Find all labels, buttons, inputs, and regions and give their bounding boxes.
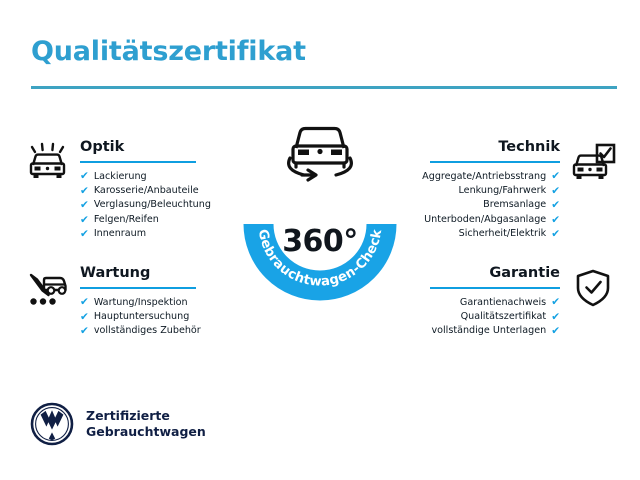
check-icon: ✔ — [551, 326, 560, 337]
list-item: Bremsanlage✔ — [430, 198, 560, 212]
list-item: ✔Lackierung — [80, 170, 196, 184]
shield-check-icon — [570, 268, 616, 308]
section-heading: Technik — [430, 140, 560, 155]
check-icon: ✔ — [551, 171, 560, 182]
check-icon: ✔ — [551, 312, 560, 323]
section-underline — [430, 161, 560, 163]
list-item: vollständige Unterlagen✔ — [430, 324, 560, 338]
check-icon: ✔ — [80, 326, 89, 337]
list-item: Qualitätszertifikat✔ — [430, 310, 560, 324]
section-underline — [80, 161, 196, 163]
check-icon: ✔ — [80, 312, 89, 323]
section-optik: Optik ✔Lackierung ✔Karosserie/Anbauteile… — [24, 140, 196, 242]
badge-360-gebrauchtwagen-check: Gebrauchtwagen-Check 360° — [236, 140, 404, 308]
list-item-label: Qualitätszertifikat — [461, 310, 547, 324]
section-underline — [430, 287, 560, 289]
footer-line-2: Gebrauchtwagen — [86, 424, 206, 440]
checklist-wartung: ✔Wartung/Inspektion ✔Hauptuntersuchung ✔… — [80, 296, 196, 339]
list-item-label: Felgen/Reifen — [94, 213, 159, 227]
check-icon: ✔ — [80, 229, 89, 240]
list-item-label: Lenkung/Fahrwerk — [458, 184, 546, 198]
checklist-technik: Aggregate/Antriebsstrang✔ Lenkung/Fahrwe… — [430, 170, 560, 242]
footer-line-1: Zertifizierte — [86, 408, 206, 424]
list-item: ✔vollständiges Zubehör — [80, 324, 196, 338]
section-optik-body: Optik ✔Lackierung ✔Karosserie/Anbauteile… — [80, 140, 196, 242]
section-garantie-body: Garantie Garantienachweis✔ Qualitätszert… — [430, 266, 560, 339]
list-item-label: Karosserie/Anbauteile — [94, 184, 199, 198]
list-item: ✔Wartung/Inspektion — [80, 296, 196, 310]
list-item: Lenkung/Fahrwerk✔ — [430, 184, 560, 198]
check-icon: ✔ — [551, 186, 560, 197]
list-item-label: vollständige Unterlagen — [431, 324, 546, 338]
section-heading: Garantie — [430, 266, 560, 281]
list-item-label: Innenraum — [94, 227, 146, 241]
list-item-label: Unterboden/Abgasanlage — [424, 213, 546, 227]
list-item: Aggregate/Antriebsstrang✔ — [430, 170, 560, 184]
certificate-page: Qualitätszertifikat Optik — [0, 0, 640, 480]
section-underline — [80, 287, 196, 289]
footer-brand: Zertifizierte Gebrauchtwagen — [30, 402, 206, 446]
car-shine-icon — [24, 142, 70, 182]
check-icon: ✔ — [80, 200, 89, 211]
list-item-label: Sicherheit/Elektrik — [459, 227, 547, 241]
section-wartung: Wartung ✔Wartung/Inspektion ✔Hauptunters… — [24, 266, 196, 339]
footer-brand-text: Zertifizierte Gebrauchtwagen — [86, 408, 206, 440]
volkswagen-logo — [30, 402, 74, 446]
badge-number: 360° — [236, 224, 404, 259]
list-item: ✔Verglasung/Beleuchtung — [80, 198, 196, 212]
list-item: Unterboden/Abgasanlage✔ — [430, 213, 560, 227]
list-item-label: Aggregate/Antriebsstrang — [422, 170, 546, 184]
section-heading: Wartung — [80, 266, 196, 281]
list-item: ✔Karosserie/Anbauteile — [80, 184, 196, 198]
pen-car-icon — [24, 268, 70, 308]
title-divider — [31, 86, 617, 89]
section-technik: Technik Aggregate/Antriebsstrang✔ Lenkun… — [430, 140, 616, 242]
section-wartung-body: Wartung ✔Wartung/Inspektion ✔Hauptunters… — [80, 266, 196, 339]
check-icon: ✔ — [551, 229, 560, 240]
checklist-optik: ✔Lackierung ✔Karosserie/Anbauteile ✔Verg… — [80, 170, 196, 242]
car-checkbox-icon — [570, 142, 616, 182]
section-garantie: Garantie Garantienachweis✔ Qualitätszert… — [430, 266, 616, 339]
car-rotate-icon — [278, 118, 362, 184]
page-title: Qualitätszertifikat — [31, 36, 306, 67]
list-item: Garantienachweis✔ — [430, 296, 560, 310]
list-item: ✔Hauptuntersuchung — [80, 310, 196, 324]
list-item-label: Wartung/Inspektion — [94, 296, 188, 310]
checklist-garantie: Garantienachweis✔ Qualitätszertifikat✔ v… — [430, 296, 560, 339]
check-icon: ✔ — [80, 186, 89, 197]
section-technik-body: Technik Aggregate/Antriebsstrang✔ Lenkun… — [430, 140, 560, 242]
check-icon: ✔ — [80, 297, 89, 308]
list-item-label: Lackierung — [94, 170, 147, 184]
list-item: ✔Felgen/Reifen — [80, 213, 196, 227]
section-heading: Optik — [80, 140, 196, 155]
list-item: ✔Innenraum — [80, 227, 196, 241]
check-icon: ✔ — [80, 215, 89, 226]
check-icon: ✔ — [551, 215, 560, 226]
check-icon: ✔ — [80, 171, 89, 182]
list-item-label: vollständiges Zubehör — [94, 324, 201, 338]
list-item-label: Verglasung/Beleuchtung — [94, 198, 211, 212]
check-icon: ✔ — [551, 200, 560, 211]
check-icon: ✔ — [551, 297, 560, 308]
list-item: Sicherheit/Elektrik✔ — [430, 227, 560, 241]
list-item-label: Bremsanlage — [483, 198, 546, 212]
list-item-label: Garantienachweis — [460, 296, 546, 310]
list-item-label: Hauptuntersuchung — [94, 310, 189, 324]
